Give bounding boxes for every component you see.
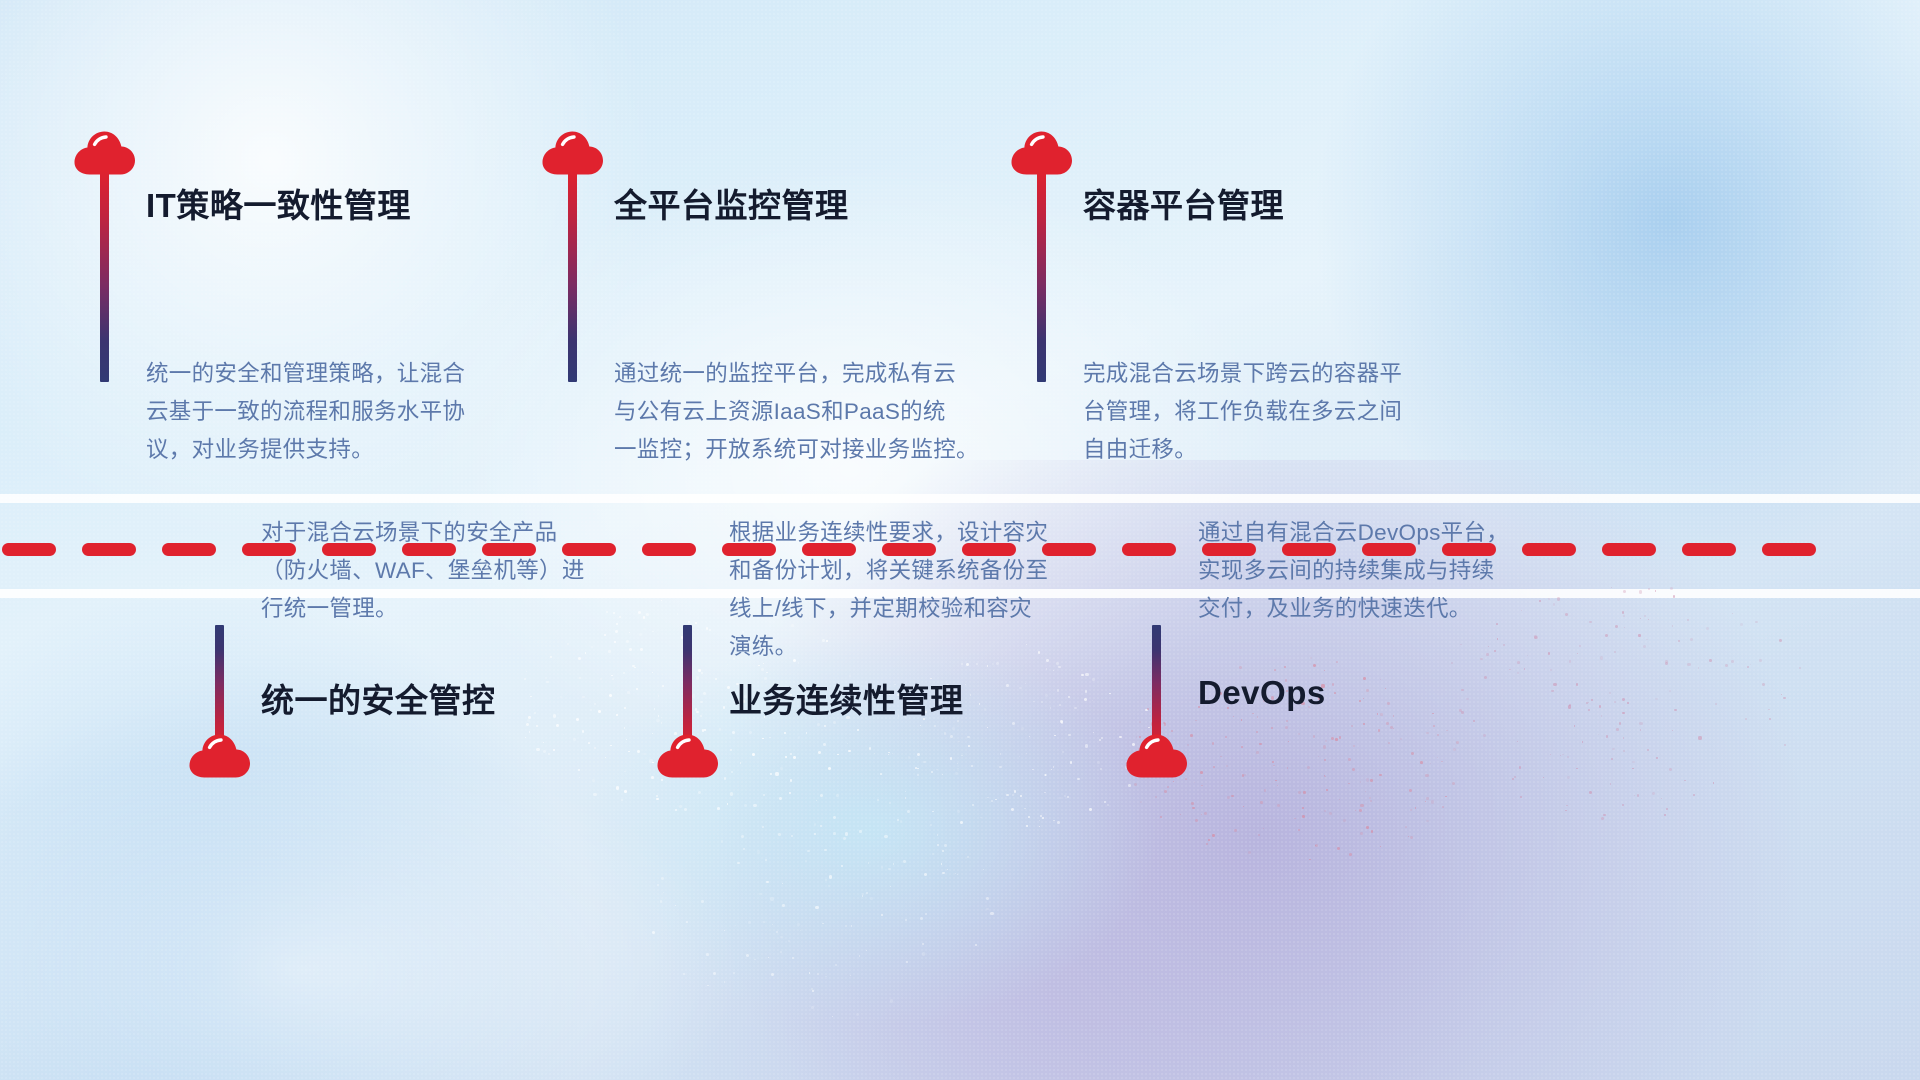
background-sparkle bbox=[1099, 739, 1101, 741]
background-sparkle bbox=[790, 779, 793, 782]
background-sparkle bbox=[679, 805, 682, 808]
background-sparkle bbox=[884, 835, 887, 838]
background-sparkle bbox=[1512, 778, 1514, 780]
background-sparkle bbox=[1431, 800, 1434, 803]
background-sparkle bbox=[656, 798, 659, 801]
background-sparkle bbox=[1562, 754, 1564, 756]
background-sparkle bbox=[598, 710, 601, 713]
background-sparkle bbox=[550, 656, 552, 658]
background-sparkle bbox=[1755, 621, 1758, 624]
background-sparkle bbox=[624, 790, 627, 793]
background-sparkle bbox=[663, 892, 664, 893]
card-body-line: 通过自有混合云DevOps平台， bbox=[1198, 514, 1628, 552]
background-sparkle bbox=[1768, 709, 1769, 710]
background-sparkle bbox=[792, 957, 794, 959]
background-sparkle bbox=[942, 850, 944, 852]
background-sparkle bbox=[590, 709, 592, 711]
card-title: 容器平台管理 bbox=[1083, 179, 1284, 227]
background-sparkle bbox=[788, 940, 790, 942]
card-body-line: 完成混合云场景下跨云的容器平 bbox=[1083, 355, 1513, 393]
background-sparkle bbox=[818, 751, 821, 754]
background-sparkle bbox=[616, 786, 619, 789]
background-sparkle bbox=[1698, 667, 1699, 668]
background-sparkle bbox=[1614, 651, 1616, 653]
background-sparkle bbox=[1598, 734, 1599, 735]
background-sparkle bbox=[1298, 829, 1300, 831]
background-sparkle bbox=[890, 999, 893, 1002]
background-sparkle bbox=[1310, 657, 1312, 659]
background-sparkle bbox=[1690, 638, 1693, 641]
background-sparkle bbox=[1378, 729, 1381, 732]
background-sparkle bbox=[1693, 794, 1695, 796]
background-sparkle bbox=[1461, 711, 1464, 714]
background-sparkle bbox=[626, 640, 629, 643]
card-title: IT策略一致性管理 bbox=[146, 179, 411, 227]
background-sparkle bbox=[797, 923, 800, 926]
background-sparkle bbox=[1173, 781, 1174, 782]
background-sparkle bbox=[585, 652, 586, 653]
background-sparkle bbox=[890, 886, 891, 887]
background-sparkle bbox=[932, 853, 934, 855]
card-body-line: 议，对业务提供支持。 bbox=[146, 431, 576, 469]
background-sparkle bbox=[594, 747, 596, 749]
background-sparkle bbox=[1256, 731, 1258, 733]
background-sparkle bbox=[636, 688, 638, 690]
background-sparkle bbox=[1324, 670, 1325, 671]
background-sparkle bbox=[1426, 820, 1428, 822]
background-sparkle bbox=[1053, 670, 1054, 671]
background-sparkle bbox=[1164, 723, 1166, 725]
background-sparkle bbox=[1274, 669, 1276, 671]
background-sparkle bbox=[999, 766, 1001, 768]
background-sparkle bbox=[1534, 636, 1537, 639]
background-sparkle bbox=[1420, 761, 1423, 764]
card-body: 通过自有混合云DevOps平台，实现多云间的持续集成与持续交付，及业务的快速迭代… bbox=[1198, 514, 1628, 628]
card-body-line: 云基于一致的流程和服务水平协 bbox=[146, 393, 576, 431]
background-sparkle bbox=[752, 753, 755, 756]
background-sparkle bbox=[806, 732, 807, 733]
background-sparkle bbox=[1514, 776, 1516, 778]
background-sparkle bbox=[1426, 732, 1428, 734]
background-sparkle bbox=[553, 714, 556, 717]
background-sparkle bbox=[1725, 664, 1728, 667]
background-sparkle bbox=[955, 772, 958, 775]
background-sparkle bbox=[1453, 748, 1456, 751]
background-sparkle bbox=[920, 917, 923, 920]
background-sparkle bbox=[1637, 794, 1639, 796]
background-sparkle bbox=[1480, 658, 1482, 660]
card-body-line: 线上/线下，并定期校验和容灾 bbox=[729, 590, 1159, 628]
background-sparkle bbox=[1769, 718, 1771, 720]
card-body-line: 交付，及业务的快速迭代。 bbox=[1198, 590, 1628, 628]
background-sparkle bbox=[1212, 834, 1214, 836]
background-sparkle bbox=[987, 727, 988, 728]
background-sparkle bbox=[1226, 765, 1228, 767]
background-sparkle bbox=[664, 656, 665, 657]
background-sparkle bbox=[1171, 730, 1173, 732]
background-sparkle bbox=[621, 799, 623, 801]
background-sparkle bbox=[652, 672, 653, 673]
background-sparkle bbox=[888, 754, 889, 755]
background-sparkle bbox=[1057, 821, 1060, 824]
card-body-line: 行统一管理。 bbox=[261, 590, 691, 628]
background-sparkle bbox=[824, 849, 827, 852]
background-sparkle bbox=[683, 973, 685, 975]
background-sparkle bbox=[1616, 728, 1619, 731]
background-sparkle bbox=[1460, 644, 1461, 645]
background-sparkle bbox=[692, 694, 695, 697]
background-sparkle bbox=[923, 761, 926, 764]
background-sparkle bbox=[1164, 722, 1166, 724]
background-sparkle bbox=[859, 955, 860, 956]
background-sparkle bbox=[1343, 819, 1346, 822]
card-body: 根据业务连续性要求，设计容灾和备份计划，将关键系统备份至线上/线下，并定期校验和… bbox=[729, 514, 1159, 666]
background-sparkle bbox=[811, 1006, 814, 1009]
background-sparkle bbox=[1567, 756, 1569, 758]
background-sparkle bbox=[1277, 804, 1280, 807]
background-sparkle bbox=[1263, 828, 1264, 829]
background-sparkle bbox=[715, 678, 717, 680]
background-sparkle bbox=[1298, 791, 1301, 794]
background-sparkle bbox=[847, 743, 848, 744]
background-sparkle bbox=[1335, 738, 1338, 741]
divider-dash bbox=[1762, 543, 1816, 556]
background-sparkle bbox=[1380, 713, 1383, 716]
background-sparkle bbox=[1442, 806, 1444, 808]
background-sparkle bbox=[623, 672, 625, 674]
background-sparkle bbox=[1097, 761, 1100, 764]
background-sparkle bbox=[856, 1013, 859, 1016]
background-sparkle bbox=[662, 685, 664, 687]
background-sparkle bbox=[1684, 780, 1686, 782]
connector-stem bbox=[1152, 625, 1161, 750]
background-sparkle bbox=[1669, 690, 1671, 692]
background-sparkle bbox=[1318, 756, 1319, 757]
background-sparkle bbox=[1252, 713, 1254, 715]
background-sparkle bbox=[817, 973, 819, 975]
background-sparkle bbox=[1348, 783, 1349, 784]
background-sparkle bbox=[526, 723, 529, 726]
background-sparkle bbox=[735, 925, 736, 926]
background-sparkle bbox=[546, 681, 548, 683]
background-sparkle bbox=[1644, 615, 1646, 617]
background-sparkle bbox=[952, 727, 955, 730]
background-sparkle bbox=[833, 832, 836, 835]
background-sparkle bbox=[1750, 664, 1751, 665]
background-sparkle bbox=[990, 912, 993, 915]
background-sparkle bbox=[823, 743, 826, 746]
background-sparkle bbox=[1445, 796, 1446, 797]
background-sparkle bbox=[942, 774, 943, 775]
background-sparkle bbox=[1553, 690, 1554, 691]
divider-dash bbox=[2, 543, 56, 556]
cloud-icon bbox=[657, 734, 719, 778]
background-sparkle bbox=[1548, 652, 1550, 654]
background-sparkle bbox=[869, 747, 872, 750]
background-sparkle bbox=[1550, 669, 1552, 671]
background-sparkle bbox=[833, 816, 836, 819]
card-body-line: 和备份计划，将关键系统备份至 bbox=[729, 552, 1159, 590]
card-body-line: 通过统一的监控平台，完成私有云 bbox=[614, 355, 1044, 393]
background-sparkle bbox=[1140, 801, 1142, 803]
background-sparkle bbox=[1213, 766, 1215, 768]
background-sparkle bbox=[1366, 689, 1369, 692]
background-sparkle bbox=[757, 850, 760, 853]
card-body: 对于混合云场景下的安全产品（防火墙、WAF、堡垒机等）进行统一管理。 bbox=[261, 514, 691, 628]
card-body-line: 对于混合云场景下的安全产品 bbox=[261, 514, 691, 552]
background-sparkle bbox=[1799, 667, 1801, 669]
background-sparkle bbox=[1517, 661, 1520, 664]
background-sparkle bbox=[1032, 769, 1033, 770]
background-sparkle bbox=[947, 869, 948, 870]
background-sparkle bbox=[1520, 796, 1522, 798]
background-sparkle bbox=[639, 633, 642, 636]
background-sparkle bbox=[812, 990, 813, 991]
background-sparkle bbox=[608, 650, 610, 652]
background-sparkle bbox=[1437, 734, 1438, 735]
card-body: 完成混合云场景下跨云的容器平台管理，将工作负载在多云之间自由迁移。 bbox=[1083, 355, 1513, 469]
background-sparkle bbox=[1543, 777, 1544, 778]
background-sparkle bbox=[1370, 779, 1373, 782]
background-sparkle bbox=[1334, 692, 1336, 694]
background-sparkle bbox=[1519, 766, 1521, 768]
background-sparkle bbox=[1648, 619, 1649, 620]
background-sparkle bbox=[845, 832, 848, 835]
background-sparkle bbox=[1586, 702, 1588, 704]
background-sparkle bbox=[1225, 736, 1227, 738]
background-sparkle bbox=[582, 696, 584, 698]
background-sparkle bbox=[972, 804, 974, 806]
background-sparkle bbox=[1185, 778, 1187, 780]
background-sparkle bbox=[859, 830, 861, 832]
card-body: 统一的安全和管理策略，让混合云基于一致的流程和服务水平协议，对业务提供支持。 bbox=[146, 355, 576, 469]
background-sparkle bbox=[1488, 646, 1489, 647]
background-sparkle bbox=[1639, 590, 1642, 593]
background-sparkle bbox=[661, 877, 664, 880]
background-sparkle bbox=[987, 797, 988, 798]
background-sparkle bbox=[534, 712, 536, 714]
background-sparkle bbox=[643, 753, 646, 756]
background-sparkle bbox=[1605, 634, 1608, 637]
background-sparkle bbox=[762, 826, 764, 828]
background-sparkle bbox=[1006, 684, 1009, 687]
connector-stem bbox=[215, 625, 224, 750]
background-sparkle bbox=[527, 719, 530, 722]
background-sparkle bbox=[766, 672, 767, 673]
background-sparkle bbox=[592, 779, 595, 782]
background-sparkle bbox=[719, 728, 722, 731]
divider-dash bbox=[82, 543, 136, 556]
background-sparkle bbox=[814, 823, 816, 825]
background-sparkle bbox=[1762, 683, 1765, 686]
background-sparkle bbox=[775, 772, 778, 775]
card-body-line: 根据业务连续性要求，设计容灾 bbox=[729, 514, 1159, 552]
background-sparkle bbox=[658, 715, 660, 717]
background-sparkle bbox=[1227, 796, 1230, 799]
background-sparkle bbox=[1589, 791, 1592, 794]
background-sparkle bbox=[1180, 814, 1181, 815]
background-sparkle bbox=[1294, 818, 1295, 819]
background-sparkle bbox=[1092, 678, 1095, 681]
connector-stem bbox=[100, 170, 109, 382]
cloud-icon bbox=[542, 131, 604, 175]
background-sparkle bbox=[1639, 722, 1642, 725]
background-sparkle bbox=[889, 802, 891, 804]
background-sparkle bbox=[640, 648, 643, 651]
background-sparkle bbox=[582, 730, 584, 732]
background-sparkle bbox=[1028, 816, 1030, 818]
background-sparkle bbox=[696, 676, 699, 679]
background-sparkle bbox=[1329, 812, 1332, 815]
divider-dash bbox=[1682, 543, 1736, 556]
background-sparkle bbox=[1026, 753, 1027, 754]
background-sparkle bbox=[967, 856, 969, 858]
card-body-line: 统一的安全和管理策略，让混合 bbox=[146, 355, 576, 393]
background-sparkle bbox=[1286, 720, 1288, 722]
background-sparkle bbox=[1646, 639, 1647, 640]
background-sparkle bbox=[1119, 736, 1121, 738]
background-sparkle bbox=[1426, 797, 1428, 799]
background-sparkle bbox=[1648, 588, 1649, 589]
background-sparkle bbox=[870, 897, 873, 900]
background-sparkle bbox=[1024, 808, 1025, 809]
background-sparkle bbox=[704, 729, 705, 730]
background-sparkle bbox=[753, 804, 756, 807]
background-sparkle bbox=[1731, 660, 1734, 663]
background-sparkle bbox=[766, 881, 768, 883]
background-sparkle bbox=[1220, 756, 1221, 757]
background-sparkle bbox=[610, 745, 611, 746]
background-sparkle bbox=[1632, 761, 1634, 763]
background-sparkle bbox=[874, 753, 875, 754]
divider-dash bbox=[162, 543, 216, 556]
background-sparkle bbox=[1085, 673, 1088, 676]
background-sparkle bbox=[793, 756, 796, 759]
background-sparkle bbox=[841, 865, 843, 867]
background-sparkle bbox=[1452, 782, 1455, 785]
background-sparkle bbox=[662, 674, 663, 675]
background-sparkle bbox=[824, 725, 826, 727]
background-sparkle bbox=[560, 696, 562, 698]
background-sparkle bbox=[1451, 662, 1453, 664]
background-sparkle bbox=[698, 669, 700, 671]
card-title: 统一的安全管控 bbox=[261, 674, 496, 722]
card-body-line: 台管理，将工作负载在多云之间 bbox=[1083, 393, 1513, 431]
background-sparkle bbox=[1553, 683, 1556, 686]
background-sparkle bbox=[652, 762, 653, 763]
background-sparkle bbox=[1652, 792, 1655, 795]
background-sparkle bbox=[984, 708, 986, 710]
background-sparkle bbox=[706, 953, 709, 956]
background-sparkle bbox=[1568, 705, 1571, 708]
background-sparkle bbox=[958, 741, 959, 742]
background-sparkle bbox=[536, 725, 538, 727]
connector-stem bbox=[568, 170, 577, 382]
background-sparkle bbox=[1041, 701, 1043, 703]
background-sparkle bbox=[1588, 709, 1589, 710]
background-sparkle bbox=[1591, 699, 1593, 701]
background-sparkle bbox=[903, 860, 906, 863]
background-sparkle bbox=[524, 678, 526, 680]
background-sparkle bbox=[1387, 702, 1389, 704]
background-sparkle bbox=[1687, 663, 1690, 666]
background-sparkle bbox=[1569, 704, 1571, 706]
cloud-icon bbox=[189, 734, 251, 778]
card-body-line: 演练。 bbox=[729, 628, 1159, 666]
card-title: 全平台监控管理 bbox=[614, 179, 849, 227]
background-sparkle bbox=[1303, 791, 1306, 794]
card-title: 业务连续性管理 bbox=[729, 674, 964, 722]
background-sparkle bbox=[1101, 737, 1103, 739]
background-sparkle bbox=[944, 732, 946, 734]
background-sparkle bbox=[1400, 738, 1402, 740]
background-sparkle bbox=[922, 952, 925, 955]
background-sparkle bbox=[658, 695, 659, 696]
background-sparkle bbox=[1674, 709, 1676, 711]
background-sparkle bbox=[1307, 766, 1310, 769]
background-sparkle bbox=[1260, 801, 1262, 803]
background-sparkle bbox=[1614, 701, 1616, 703]
background-sparkle bbox=[785, 756, 787, 758]
background-sparkle bbox=[1360, 804, 1363, 807]
background-sparkle bbox=[624, 707, 627, 710]
background-sparkle bbox=[1353, 745, 1355, 747]
background-sparkle bbox=[1336, 661, 1338, 663]
background-sparkle bbox=[931, 771, 933, 773]
background-sparkle bbox=[1085, 744, 1088, 747]
background-sparkle bbox=[616, 714, 617, 715]
background-sparkle bbox=[1012, 794, 1014, 796]
background-sparkle bbox=[1000, 753, 1001, 754]
background-sparkle bbox=[1656, 757, 1657, 758]
background-sparkle bbox=[937, 844, 939, 846]
background-sparkle bbox=[778, 833, 781, 836]
background-sparkle bbox=[731, 771, 733, 773]
background-sparkle bbox=[1014, 790, 1016, 792]
cloud-icon bbox=[74, 131, 136, 175]
card-body-line: 一监控；开放系统可对接业务监控。 bbox=[614, 431, 1044, 469]
background-sparkle bbox=[1332, 683, 1335, 686]
background-sparkle bbox=[1359, 700, 1361, 702]
background-sparkle bbox=[654, 708, 656, 710]
card-body-line: 自由迁移。 bbox=[1083, 431, 1513, 469]
background-sparkle bbox=[971, 765, 973, 767]
card-body: 通过统一的监控平台，完成私有云与公有云上资源IaaS和PaaS的统一监控；开放系… bbox=[614, 355, 1044, 469]
background-sparkle bbox=[578, 657, 581, 660]
background-sparkle bbox=[907, 810, 910, 813]
background-sparkle bbox=[1369, 797, 1371, 799]
divider-line-upper bbox=[0, 494, 1920, 503]
background-sparkle bbox=[829, 875, 832, 878]
background-sparkle bbox=[957, 874, 958, 875]
background-sparkle bbox=[1040, 815, 1042, 817]
background-sparkle bbox=[917, 768, 918, 769]
background-sparkle bbox=[1425, 774, 1428, 777]
background-sparkle bbox=[1745, 718, 1747, 720]
background-sparkle bbox=[809, 972, 810, 973]
background-sparkle bbox=[1665, 660, 1668, 663]
background-sparkle bbox=[1527, 655, 1528, 656]
background-sparkle bbox=[709, 629, 711, 631]
background-sparkle bbox=[1386, 722, 1389, 725]
background-sparkle bbox=[1057, 689, 1060, 692]
background-sparkle bbox=[628, 751, 629, 752]
background-sparkle bbox=[1388, 742, 1390, 744]
cloud-icon bbox=[1126, 734, 1188, 778]
background-sparkle bbox=[1623, 737, 1624, 738]
background-sparkle bbox=[979, 703, 980, 704]
background-sparkle bbox=[1600, 656, 1603, 659]
